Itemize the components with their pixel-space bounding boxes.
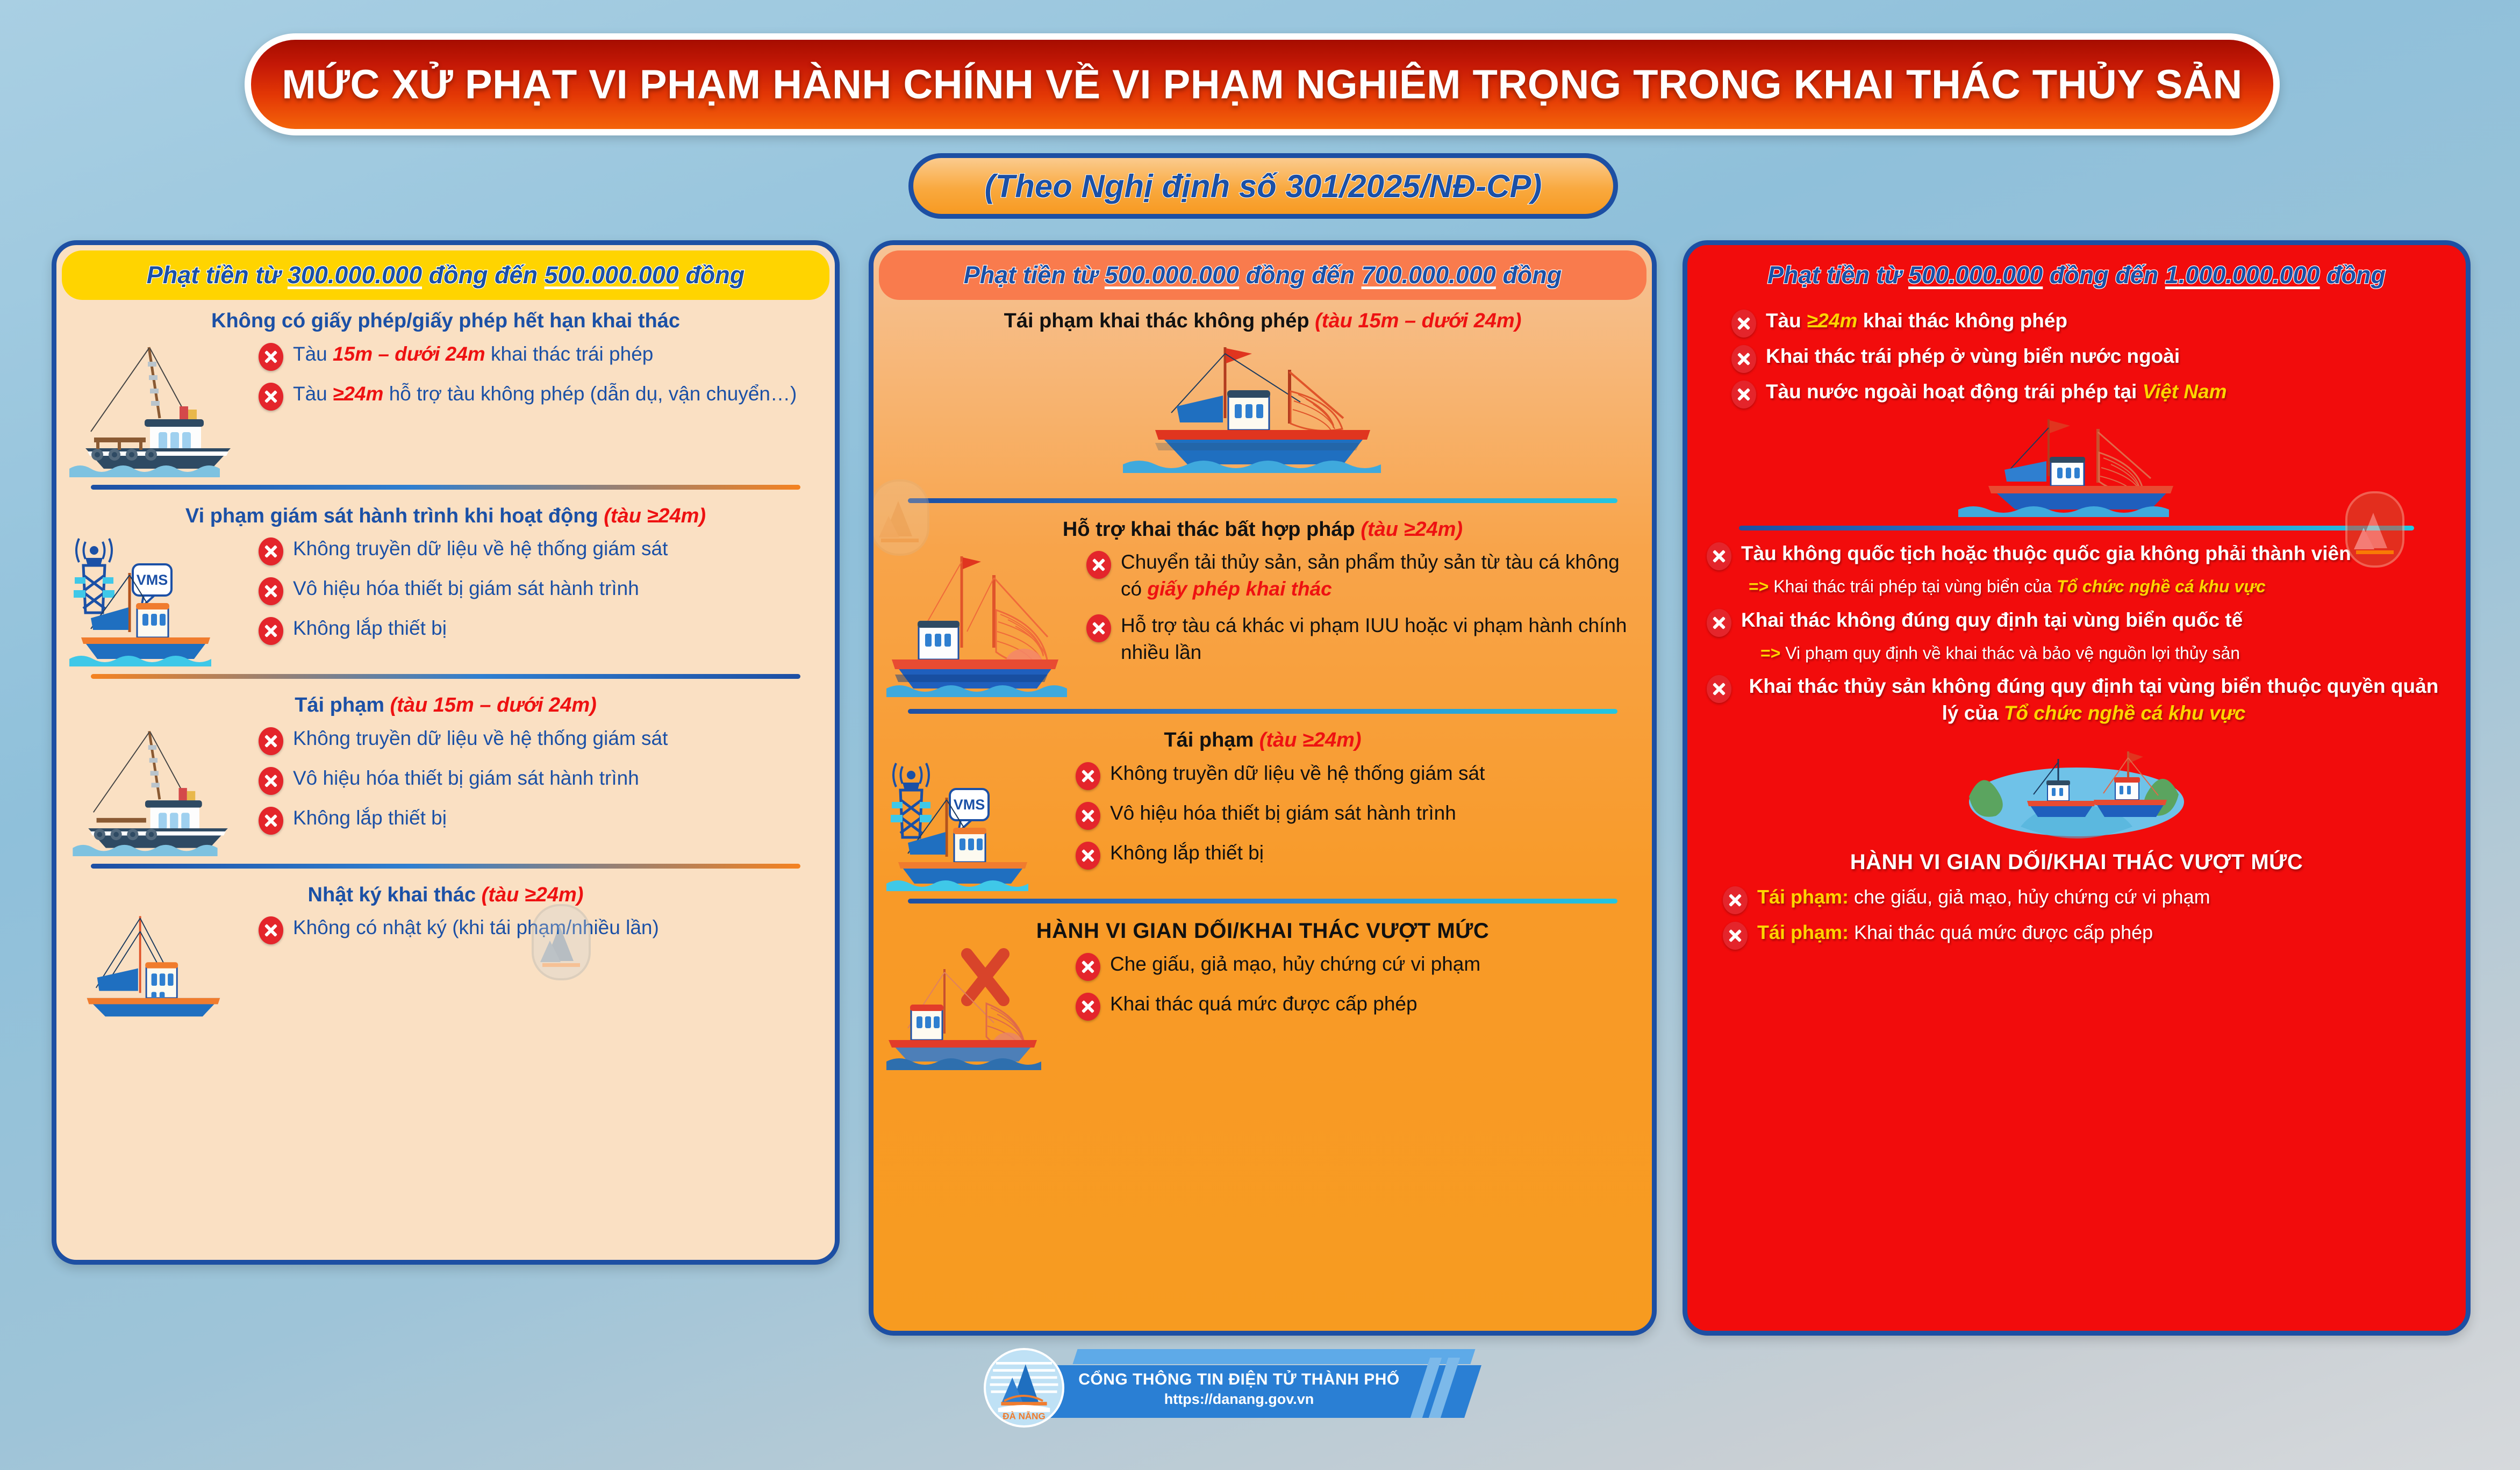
section-logbook: Nhật ký khai thác (tàu ≥24m) — [69, 877, 822, 1019]
subtitle-banner: (Theo Nghị định số 301/2025/NĐ-CP) — [908, 153, 1618, 219]
bullet-list: Không truyền dữ liệu về hệ thống giám sá… — [1076, 757, 1639, 879]
footer-logo-bar: ĐÀ NẴNG CỔNG THÔNG TIN ĐIỆN TỬ THÀNH PHỐ… — [968, 1339, 1473, 1434]
column-3-header: Phạt tiền từ 500.000.000 đồng đến 1.000.… — [1693, 250, 2460, 300]
column-3-body: Tàu ≥24m khai thác không phép Khai thác … — [1687, 300, 2466, 963]
bullet-item: Vô hiệu hóa thiết bị giám sát hành trình — [1076, 800, 1639, 830]
bullet-item: Khai thác không đúng quy định tại vùng b… — [1707, 607, 2446, 637]
boat-illustration-navy-2 — [69, 722, 247, 856]
bullet-item: Khai thác trái phép ở vùng biển nước ngo… — [1731, 343, 2446, 373]
boat-illustration-navy — [69, 338, 247, 477]
danang-logo-icon: ĐÀ NẴNG — [984, 1348, 1064, 1428]
x-mark-icon — [1076, 842, 1100, 870]
bullet-text: Hỗ trợ tàu cá khác vi phạm IUU hoặc vi p… — [1121, 612, 1639, 666]
bullet-item: Không truyền dữ liệu về hệ thống giám sá… — [1076, 760, 1639, 790]
x-mark-icon — [259, 807, 283, 835]
bullet-list: Không truyền dữ liệu về hệ thống giám sá… — [259, 722, 822, 844]
x-mark-icon — [259, 617, 283, 645]
x-mark-icon — [1731, 381, 1756, 408]
section-title: Tái phạm (tàu 15m – dưới 24m) — [69, 687, 822, 722]
bullet-text: Không lắp thiết bị — [1110, 840, 1264, 866]
section-divider — [91, 485, 800, 490]
x-mark-icon — [259, 727, 283, 755]
column-3-header-text: Phạt tiền từ 500.000.000 đồng đến 1.000.… — [1767, 261, 2386, 289]
bullet-item: Không lắp thiết bị — [259, 615, 822, 645]
bullet-item: Tàu ≥24m hỗ trợ tàu không phép (dẫn dụ, … — [259, 381, 822, 411]
x-mark-icon — [1086, 551, 1111, 579]
bullet-item: Che giấu, giả mạo, hủy chứng cứ vi phạm — [1076, 951, 1639, 981]
section-title: Nhật ký khai thác (tàu ≥24m) — [69, 877, 822, 912]
bullet-item: Tàu nước ngoài hoạt động trái phép tại V… — [1731, 378, 2446, 408]
bullet-item: Tái phạm: Khai thác quá mức được cấp phé… — [1723, 920, 2446, 950]
svg-text:VMS: VMS — [954, 797, 985, 813]
bullet-item: Khai thác quá mức được cấp phép — [1076, 991, 1639, 1021]
bullet-item: Vô hiệu hóa thiết bị giám sát hành trình — [259, 575, 822, 605]
x-mark-icon — [259, 577, 283, 605]
x-mark-icon — [259, 343, 283, 371]
bullet-text: Vô hiệu hóa thiết bị giám sát hành trình — [293, 575, 639, 602]
top-bullet-list: Tàu ≥24m khai thác không phép Khai thác … — [1707, 307, 2446, 408]
x-mark-icon — [259, 916, 283, 944]
bullet-list: Không có nhật ký (khi tái phạm/nhiều lần… — [259, 911, 822, 954]
section-divider — [91, 674, 800, 679]
column-1-header-text: Phạt tiền từ 300.000.000 đồng đến 500.00… — [147, 261, 745, 289]
bullet-text: Tàu ≥24m hỗ trợ tàu không phép (dẫn dụ, … — [293, 381, 797, 407]
column-2-header-text: Phạt tiền từ 500.000.000 đồng đến 700.00… — [964, 261, 1562, 289]
footer-org-name: CỔNG THÔNG TIN ĐIỆN TỬ THÀNH PHỐ — [1078, 1371, 1400, 1389]
svg-text:ĐÀ NẴNG: ĐÀ NẴNG — [1003, 1411, 1045, 1421]
bullet-item: Hỗ trợ tàu cá khác vi phạm IUU hoặc vi p… — [1086, 612, 1639, 666]
sub-note: => Khai thác trái phép tại vùng biển của… — [1749, 576, 2446, 598]
section-divider — [908, 899, 1617, 903]
bullet-text: Vô hiệu hóa thiết bị giám sát hành trình — [1110, 800, 1456, 827]
section-no-license: Không có giấy phép/giấy phép hết hạn kha… — [69, 303, 822, 477]
bullet-text: Khai thác trái phép ở vùng biển nước ngo… — [1766, 343, 2180, 370]
section-repeat-unlicensed: Tái phạm khai thác không phép (tàu 15m –… — [886, 303, 1639, 491]
bullet-list: Tàu 15m – dưới 24m khai thác trái phép T… — [259, 338, 822, 420]
sub-note: => Vi phạm quy định về khai thác và bảo … — [1760, 642, 2446, 665]
bullet-text: Tàu nước ngoài hoạt động trái phép tại V… — [1766, 378, 2227, 405]
title-banner: MỨC XỬ PHẠT VI PHẠM HÀNH CHÍNH VỀ VI PHẠ… — [245, 33, 2280, 135]
x-mark-icon — [1086, 614, 1111, 642]
x-mark-icon — [1076, 993, 1100, 1021]
bullet-item: Không truyền dữ liệu về hệ thống giám sá… — [259, 535, 822, 565]
bullet-text: Không truyền dữ liệu về hệ thống giám sá… — [293, 535, 668, 562]
bullet-text: Khai thác thủy sản không đúng quy định t… — [1741, 673, 2446, 727]
x-mark-icon — [1707, 609, 1731, 637]
bullet-item: Không lắp thiết bị — [1076, 840, 1639, 870]
boat-illustration-red-blue — [1707, 414, 2446, 521]
section-divider — [1739, 526, 2414, 530]
bullet-text: Không truyền dữ liệu về hệ thống giám sá… — [1110, 760, 1485, 787]
bullet-text: Tái phạm: che giấu, giả mạo, hủy chứng c… — [1757, 884, 2210, 910]
bullet-item: Không có nhật ký (khi tái phạm/nhiều lần… — [259, 914, 822, 944]
penalty-column-2: Phạt tiền từ 500.000.000 đồng đến 700.00… — [869, 240, 1657, 1336]
footer-text: CỔNG THÔNG TIN ĐIỆN TỬ THÀNH PHỐ https:/… — [1078, 1371, 1400, 1408]
boat-illustration-vms: VMS — [69, 532, 247, 666]
column-2-body: Tái phạm khai thác không phép (tàu 15m –… — [874, 300, 1652, 1080]
x-mark-icon — [1731, 310, 1756, 338]
x-mark-icon — [1076, 762, 1100, 790]
boat-illustration-orange — [69, 911, 247, 1019]
footer-stripes — [1414, 1358, 1450, 1421]
penalty-column-3: Phạt tiền từ 500.000.000 đồng đến 1.000.… — [1683, 240, 2471, 1336]
section-fraud-overfishing: HÀNH VI GIAN DỐI/KHAI THÁC VƯỢT MỨC — [886, 912, 1639, 1071]
bullet-text: Không có nhật ký (khi tái phạm/nhiều lần… — [293, 914, 659, 941]
x-mark-icon — [1731, 345, 1756, 373]
boat-illustration-vms-2: VMS — [886, 757, 1064, 891]
x-mark-icon — [1707, 675, 1731, 703]
section-title: Tái phạm (tàu ≥24m) — [886, 722, 1639, 757]
bottom-section-heading: HÀNH VI GIAN DỐI/KHAI THÁC VƯỢT MỨC — [1707, 850, 2446, 874]
bullet-item: Tàu ≥24m khai thác không phép — [1731, 307, 2446, 338]
x-mark-icon — [1076, 953, 1100, 981]
bullet-list: Không truyền dữ liệu về hệ thống giám sá… — [259, 532, 822, 655]
bullet-text: Khai thác quá mức được cấp phép — [1110, 991, 1417, 1017]
section-title: Vi phạm giám sát hành trình khi hoạt độn… — [69, 498, 822, 533]
section-illegal-support: Hỗ trợ khai thác bất hợp pháp (tàu ≥24m) — [886, 512, 1639, 702]
boat-illustration-net-blue — [886, 546, 1075, 701]
bullet-item: Tàu 15m – dưới 24m khai thác trái phép — [259, 341, 822, 371]
bullet-text: Chuyển tải thủy sản, sản phẩm thủy sản t… — [1121, 549, 1639, 603]
column-2-header: Phạt tiền từ 500.000.000 đồng đến 700.00… — [879, 250, 1646, 300]
x-mark-icon — [1707, 542, 1731, 570]
section-repeat-violation: Tái phạm (tàu 15m – dưới 24m) — [69, 687, 822, 856]
bullet-text: Không lắp thiết bị — [293, 805, 447, 831]
mid-bullet-list: Tàu không quốc tịch hoặc thuộc quốc gia … — [1707, 540, 2446, 727]
x-mark-icon — [259, 383, 283, 411]
column-1-body: Không có giấy phép/giấy phép hết hạn kha… — [56, 300, 835, 1027]
x-mark-icon — [259, 767, 283, 795]
bullet-text: Tái phạm: Khai thác quá mức được cấp phé… — [1757, 920, 2153, 946]
bullet-text: Không lắp thiết bị — [293, 615, 447, 642]
section-vms-violation: Vi phạm giám sát hành trình khi hoạt độn… — [69, 498, 822, 667]
footer-url[interactable]: https://danang.gov.vn — [1078, 1391, 1400, 1408]
bullet-text: Khai thác không đúng quy định tại vùng b… — [1741, 607, 2243, 634]
section-title: Hỗ trợ khai thác bất hợp pháp (tàu ≥24m) — [886, 512, 1639, 546]
bullet-item: Tàu không quốc tịch hoặc thuộc quốc gia … — [1707, 540, 2446, 570]
bullet-item: Khai thác thủy sản không đúng quy định t… — [1707, 673, 2446, 727]
section-title: HÀNH VI GIAN DỐI/KHAI THÁC VƯỢT MỨC — [886, 912, 1639, 948]
title-bar: MỨC XỬ PHẠT VI PHẠM HÀNH CHÍNH VỀ VI PHẠ… — [251, 40, 2273, 129]
bullet-list: Che giấu, giả mạo, hủy chứng cứ vi phạm … — [1076, 948, 1639, 1030]
x-mark-icon — [1076, 802, 1100, 830]
bullet-text: Che giấu, giả mạo, hủy chứng cứ vi phạm — [1110, 951, 1480, 978]
bottom-bullet-list: Tái phạm: che giấu, giả mạo, hủy chứng c… — [1707, 884, 2446, 950]
x-mark-icon — [1723, 922, 1748, 950]
column-1-header: Phạt tiền từ 300.000.000 đồng đến 500.00… — [62, 250, 829, 300]
bullet-item: Vô hiệu hóa thiết bị giám sát hành trình — [259, 765, 822, 795]
boat-illustration-red-trawler — [886, 338, 1639, 491]
bullet-item: Không truyền dữ liệu về hệ thống giám sá… — [259, 725, 822, 755]
bullet-text: Không truyền dữ liệu về hệ thống giám sá… — [293, 725, 668, 752]
bullet-text: Tàu 15m – dưới 24m khai thác trái phép — [293, 341, 653, 368]
section-repeat-vms: Tái phạm (tàu ≥24m) — [886, 722, 1639, 891]
x-mark-icon — [1723, 886, 1748, 914]
section-title: Tái phạm khai thác không phép (tàu 15m –… — [886, 303, 1639, 338]
section-divider — [908, 709, 1617, 714]
bullet-text: Vô hiệu hóa thiết bị giám sát hành trình — [293, 765, 639, 792]
section-divider — [908, 498, 1617, 503]
bullet-list: Chuyển tải thủy sản, sản phẩm thủy sản t… — [1086, 546, 1639, 676]
subtitle-text: (Theo Nghị định số 301/2025/NĐ-CP) — [985, 168, 1542, 205]
bullet-item: Tái phạm: che giấu, giả mạo, hủy chứng c… — [1723, 884, 2446, 914]
section-title: Không có giấy phép/giấy phép hết hạn kha… — [69, 303, 822, 338]
island-boats-illustration — [1707, 732, 2446, 845]
bullet-text: Tàu ≥24m khai thác không phép — [1766, 307, 2067, 334]
boat-illustration-net-x — [886, 948, 1064, 1071]
bullet-text: Tàu không quốc tịch hoặc thuộc quốc gia … — [1741, 540, 2351, 567]
svg-text:VMS: VMS — [137, 572, 168, 588]
x-mark-icon — [259, 537, 283, 565]
bullet-item: Không lắp thiết bị — [259, 805, 822, 835]
section-divider — [91, 864, 800, 869]
penalty-column-1: Phạt tiền từ 300.000.000 đồng đến 500.00… — [52, 240, 840, 1265]
bullet-item: Chuyển tải thủy sản, sản phẩm thủy sản t… — [1086, 549, 1639, 603]
page-title: MỨC XỬ PHẠT VI PHẠM HÀNH CHÍNH VỀ VI PHẠ… — [282, 61, 2243, 108]
